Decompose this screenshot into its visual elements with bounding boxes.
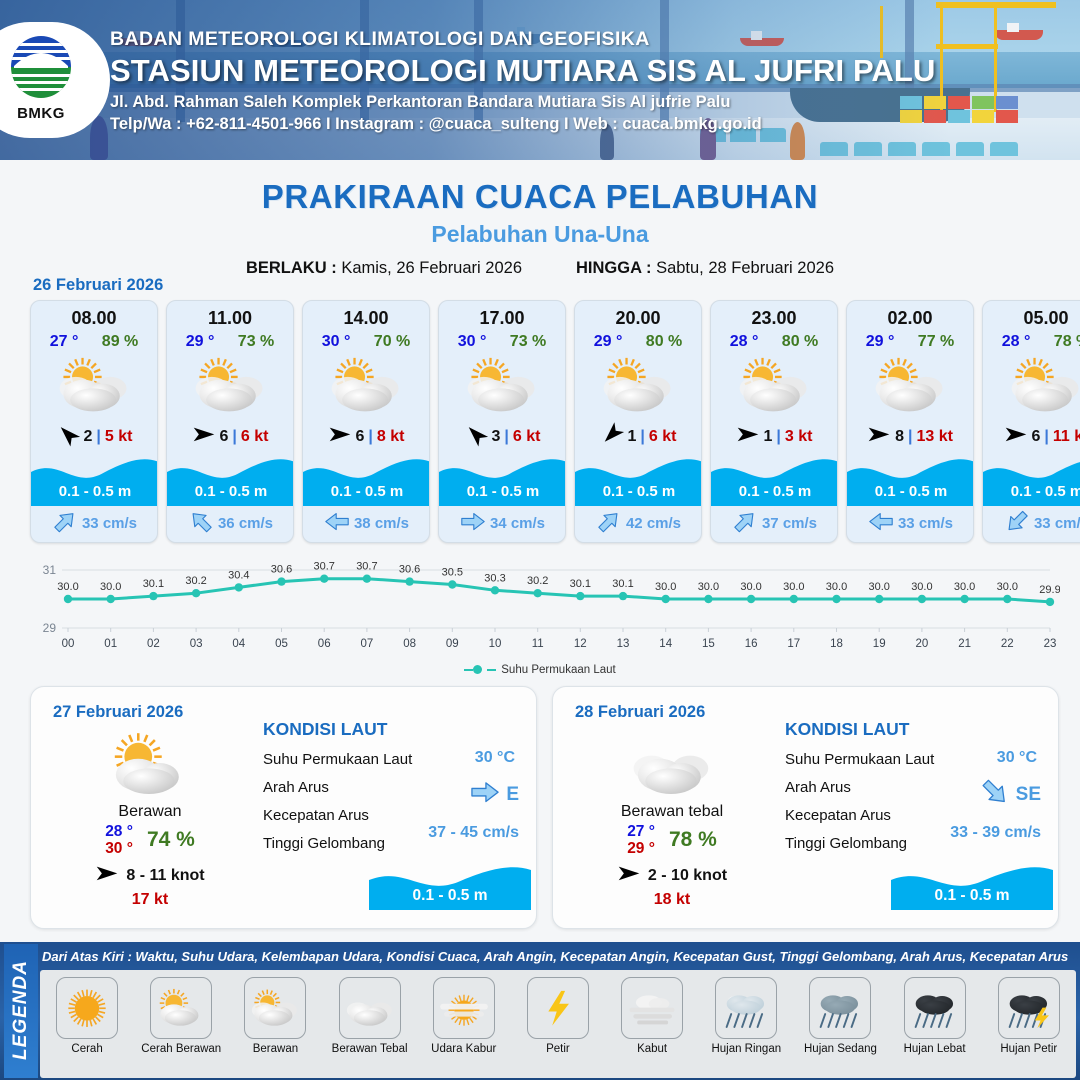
svg-text:30.4: 30.4 bbox=[228, 569, 249, 581]
daily-forecast-row: 27 Februari 2026 Berawan 28 ° 30 ° 74 % … bbox=[30, 686, 1059, 929]
legend-item-label: Berawan bbox=[233, 1043, 317, 1055]
card-humidity: 73 % bbox=[510, 333, 546, 351]
wave-height-value: 0.1 - 0.5 m bbox=[369, 887, 531, 905]
bmkg-logo-text: BMKG bbox=[17, 105, 65, 122]
svg-text:05: 05 bbox=[275, 638, 288, 650]
current-direction-arrow-icon bbox=[189, 512, 213, 536]
card-current-row: 37 cm/s bbox=[711, 512, 838, 536]
card-wave-height: 0.1 - 0.5 m bbox=[303, 483, 430, 500]
current-speed-label: Kecepatan Arus bbox=[785, 807, 1047, 824]
daily-forecast-panel: 27 Februari 2026 Berawan 28 ° 30 ° 74 % … bbox=[30, 686, 537, 929]
legend-item-label: Cerah bbox=[45, 1043, 129, 1055]
card-current-row: 33 cm/s bbox=[983, 512, 1080, 536]
hingga-group: HINGGA : Sabtu, 28 Februari 2026 bbox=[576, 259, 834, 278]
svg-text:30.7: 30.7 bbox=[356, 561, 377, 573]
separator: | bbox=[640, 428, 644, 446]
svg-text:30.0: 30.0 bbox=[100, 581, 121, 593]
card-wind-row: 1 | 3 kt bbox=[711, 425, 837, 449]
legend-item: Petir bbox=[516, 977, 600, 1055]
card-temp-hum-row: 30 ° 70 % bbox=[303, 333, 429, 351]
svg-text:30.0: 30.0 bbox=[698, 581, 719, 593]
daily-wind-row: 8 - 11 knot bbox=[45, 864, 255, 888]
legend-item: Berawan Tebal bbox=[328, 977, 412, 1055]
legend-item-label: Cerah Berawan bbox=[139, 1043, 223, 1055]
svg-text:03: 03 bbox=[190, 638, 203, 650]
card-humidity: 70 % bbox=[374, 333, 410, 351]
card-temperature: 28 ° bbox=[1002, 333, 1031, 351]
legend-item: Hujan Lebat bbox=[893, 977, 977, 1055]
card-humidity: 78 % bbox=[1054, 333, 1080, 351]
card-wind-row: 6 | 11 kt bbox=[983, 425, 1080, 449]
svg-text:12: 12 bbox=[574, 638, 587, 650]
sea-conditions-header: KONDISI LAUT bbox=[263, 719, 525, 740]
daily-date: 28 Februari 2026 bbox=[575, 703, 705, 722]
svg-text:20: 20 bbox=[916, 638, 929, 650]
svg-text:16: 16 bbox=[745, 638, 758, 650]
svg-text:30.7: 30.7 bbox=[313, 561, 334, 573]
page-subtitle: Pelabuhan Una-Una bbox=[0, 221, 1080, 248]
legend-item: Hujan Ringan bbox=[704, 977, 788, 1055]
current-direction-value-group: SE bbox=[981, 781, 1041, 808]
hingga-value: Sabtu, 28 Februari 2026 bbox=[656, 259, 834, 277]
separator: | bbox=[1044, 428, 1048, 446]
card-time: 14.00 bbox=[303, 308, 429, 329]
card-current-row: 38 cm/s bbox=[303, 512, 430, 536]
card-temperature: 27 ° bbox=[50, 333, 79, 351]
wind-direction-arrow-icon bbox=[192, 425, 216, 449]
svg-text:30.0: 30.0 bbox=[911, 581, 932, 593]
chart-legend-marker bbox=[473, 665, 482, 674]
card-current-speed: 33 cm/s bbox=[898, 515, 953, 532]
svg-text:22: 22 bbox=[1001, 638, 1014, 650]
separator: | bbox=[232, 428, 236, 446]
card-wind-row: 8 | 13 kt bbox=[847, 425, 973, 449]
daily-gust: 17 kt bbox=[45, 891, 255, 909]
legend-sidebar: LEGENDA bbox=[4, 944, 38, 1078]
card-gust: 13 kt bbox=[916, 428, 952, 446]
legend-item: Kabut bbox=[610, 977, 694, 1055]
daily-temps-row: 27 ° 29 ° 78 % bbox=[567, 823, 777, 858]
current-direction-arrow-icon bbox=[981, 781, 1009, 808]
legend-item: Berawan bbox=[233, 977, 317, 1055]
svg-text:30.6: 30.6 bbox=[271, 564, 292, 576]
wind-direction-arrow-icon bbox=[464, 425, 488, 449]
card-temp-hum-row: 29 ° 80 % bbox=[575, 333, 701, 351]
daily-temp-max: 30 ° bbox=[105, 840, 133, 857]
card-wind-row: 1 | 6 kt bbox=[575, 425, 701, 449]
wind-direction-arrow-icon bbox=[1004, 425, 1028, 449]
legend-item-label: Hujan Petir bbox=[987, 1043, 1071, 1055]
card-wind-speed: 3 bbox=[492, 428, 501, 446]
separator: | bbox=[368, 428, 372, 446]
svg-text:30.0: 30.0 bbox=[57, 581, 78, 593]
card-wave-height: 0.1 - 0.5 m bbox=[575, 483, 702, 500]
card-temperature: 28 ° bbox=[730, 333, 759, 351]
daily-left-column: Berawan tebal 27 ° 29 ° 78 % 2 - 10 knot… bbox=[567, 731, 777, 909]
daily-humidity: 78 % bbox=[669, 828, 717, 852]
card-temperature: 30 ° bbox=[458, 333, 487, 351]
wind-direction-arrow-icon bbox=[617, 864, 641, 888]
daily-temp-min: 28 ° bbox=[105, 823, 133, 840]
svg-text:30.0: 30.0 bbox=[655, 581, 676, 593]
card-wind-row: 6 | 6 kt bbox=[167, 425, 293, 449]
svg-text:30.0: 30.0 bbox=[740, 581, 761, 593]
weather-berawan-icon bbox=[711, 355, 837, 417]
header-contact: Telp/Wa : +62-811-4501-966 I Instagram :… bbox=[110, 115, 935, 134]
wind-direction-arrow-icon bbox=[95, 864, 119, 888]
weather-hujan-sedang-icon bbox=[809, 977, 871, 1039]
card-temp-hum-row: 29 ° 73 % bbox=[167, 333, 293, 351]
header-address: Jl. Abd. Rahman Saleh Komplek Perkantora… bbox=[110, 93, 935, 112]
svg-text:30.0: 30.0 bbox=[783, 581, 804, 593]
hingga-label: HINGGA : bbox=[576, 259, 651, 277]
current-direction-arrow-icon bbox=[471, 781, 499, 808]
wave-height-value: 0.1 - 0.5 m bbox=[891, 887, 1053, 905]
svg-text:07: 07 bbox=[361, 638, 374, 650]
sst-chart: 293130.00030.00130.10230.20330.40430.605… bbox=[20, 556, 1060, 676]
weather-hujan-lebat-icon bbox=[904, 977, 966, 1039]
card-gust: 3 kt bbox=[785, 428, 813, 446]
card-time: 11.00 bbox=[167, 308, 293, 329]
card-wind-row: 3 | 6 kt bbox=[439, 425, 565, 449]
daily-condition: Berawan tebal bbox=[567, 803, 777, 821]
berlaku-label: BERLAKU : bbox=[246, 259, 337, 277]
legend-item: Hujan Sedang bbox=[798, 977, 882, 1055]
card-current-row: 42 cm/s bbox=[575, 512, 702, 536]
current-direction-value: SE bbox=[1016, 784, 1041, 806]
card-wind-row: 6 | 8 kt bbox=[303, 425, 429, 449]
svg-text:09: 09 bbox=[446, 638, 459, 650]
card-wind-speed: 6 bbox=[220, 428, 229, 446]
svg-text:19: 19 bbox=[873, 638, 886, 650]
current-direction-arrow-icon bbox=[597, 512, 621, 536]
daily-condition: Berawan bbox=[45, 803, 255, 821]
current-direction-arrow-icon bbox=[53, 512, 77, 536]
svg-text:01: 01 bbox=[104, 638, 117, 650]
hourly-card: 11.00 29 ° 73 % 6 | 6 kt 0.1 - 0.5 m 36 … bbox=[166, 300, 294, 543]
card-time: 02.00 bbox=[847, 308, 973, 329]
legend-note: Dari Atas Kiri : Waktu, Suhu Udara, Kele… bbox=[42, 949, 1068, 964]
card-current-row: 33 cm/s bbox=[847, 512, 974, 536]
svg-text:30.0: 30.0 bbox=[954, 581, 975, 593]
daily-left-column: Berawan 28 ° 30 ° 74 % 8 - 11 knot 17 kt bbox=[45, 731, 255, 909]
svg-text:14: 14 bbox=[659, 638, 672, 650]
legend-item: Udara Kabur bbox=[422, 977, 506, 1055]
separator: | bbox=[776, 428, 780, 446]
svg-text:30.1: 30.1 bbox=[612, 578, 633, 590]
weather-berawan-icon bbox=[31, 355, 157, 417]
current-speed-label: Kecepatan Arus bbox=[263, 807, 525, 824]
card-gust: 8 kt bbox=[377, 428, 405, 446]
wind-direction-arrow-icon bbox=[328, 425, 352, 449]
card-temperature: 29 ° bbox=[866, 333, 895, 351]
svg-text:29.9: 29.9 bbox=[1039, 584, 1060, 596]
daily-temp-range: 27 ° 29 ° bbox=[627, 823, 655, 858]
card-time: 05.00 bbox=[983, 308, 1080, 329]
page-header: BMKG BADAN METEOROLOGI KLIMATOLOGI DAN G… bbox=[0, 0, 1080, 160]
hourly-date-label: 26 Februari 2026 bbox=[33, 276, 163, 295]
legend-item-label: Kabut bbox=[610, 1043, 694, 1055]
card-current-speed: 42 cm/s bbox=[626, 515, 681, 532]
legend-item: Hujan Petir bbox=[987, 977, 1071, 1055]
card-current-speed: 34 cm/s bbox=[490, 515, 545, 532]
wind-direction-arrow-icon bbox=[736, 425, 760, 449]
legend-item: Cerah bbox=[45, 977, 129, 1055]
chart-legend-label: Suhu Permukaan Laut bbox=[501, 664, 615, 676]
chart-legend-line bbox=[464, 669, 473, 671]
legend-item-label: Udara Kabur bbox=[422, 1043, 506, 1055]
card-wind-speed: 1 bbox=[764, 428, 773, 446]
current-direction-arrow-icon bbox=[869, 512, 893, 536]
card-time: 17.00 bbox=[439, 308, 565, 329]
weather-udara-kabur-icon bbox=[433, 977, 495, 1039]
weather-berawan-icon bbox=[303, 355, 429, 417]
sst-value: 30 °C bbox=[475, 749, 515, 767]
legend-item-label: Petir bbox=[516, 1043, 600, 1055]
card-humidity: 77 % bbox=[918, 333, 954, 351]
daily-humidity: 74 % bbox=[147, 828, 195, 852]
card-time: 08.00 bbox=[31, 308, 157, 329]
svg-text:31: 31 bbox=[43, 563, 57, 577]
svg-text:17: 17 bbox=[787, 638, 800, 650]
berlaku-group: BERLAKU : Kamis, 26 Februari 2026 bbox=[246, 259, 522, 278]
svg-text:00: 00 bbox=[62, 638, 75, 650]
weather-cerah-berawan-icon bbox=[150, 977, 212, 1039]
legend-section: LEGENDA Dari Atas Kiri : Waktu, Suhu Uda… bbox=[0, 942, 1080, 1080]
weather-berawan-icon bbox=[847, 355, 973, 417]
weather-berawan-tebal-icon bbox=[339, 977, 401, 1039]
svg-text:30.6: 30.6 bbox=[399, 564, 420, 576]
card-wind-speed: 8 bbox=[895, 428, 904, 446]
weather-berawan-icon bbox=[244, 977, 306, 1039]
sst-value: 30 °C bbox=[997, 749, 1037, 767]
svg-text:04: 04 bbox=[232, 638, 245, 650]
card-current-speed: 33 cm/s bbox=[82, 515, 137, 532]
card-gust: 5 kt bbox=[105, 428, 133, 446]
weather-berawan-icon bbox=[439, 355, 565, 417]
daily-temp-max: 29 ° bbox=[627, 840, 655, 857]
card-wave-height: 0.1 - 0.5 m bbox=[167, 483, 294, 500]
card-humidity: 73 % bbox=[238, 333, 274, 351]
separator: | bbox=[96, 428, 100, 446]
card-current-speed: 37 cm/s bbox=[762, 515, 817, 532]
daily-wind-speed: 2 - 10 knot bbox=[648, 867, 727, 885]
svg-text:15: 15 bbox=[702, 638, 715, 650]
hourly-card: 05.00 28 ° 78 % 6 | 11 kt 0.1 - 0.5 m 33… bbox=[982, 300, 1080, 543]
sea-conditions-header: KONDISI LAUT bbox=[785, 719, 1047, 740]
card-wave-height: 0.1 - 0.5 m bbox=[439, 483, 566, 500]
card-humidity: 80 % bbox=[782, 333, 818, 351]
legend-sidebar-label: LEGENDA bbox=[10, 943, 32, 1077]
daily-sea-conditions: KONDISI LAUT Suhu Permukaan Laut Arah Ar… bbox=[263, 719, 525, 852]
weather-petir-icon bbox=[527, 977, 589, 1039]
weather-cerah-berawan-icon bbox=[45, 731, 255, 799]
daily-wind-speed: 8 - 11 knot bbox=[126, 867, 204, 885]
chart-legend: Suhu Permukaan Laut bbox=[0, 664, 1080, 676]
card-current-row: 36 cm/s bbox=[167, 512, 294, 536]
card-gust: 11 kt bbox=[1053, 428, 1080, 446]
current-direction-arrow-icon bbox=[325, 512, 349, 536]
daily-sea-conditions: KONDISI LAUT Suhu Permukaan Laut Arah Ar… bbox=[785, 719, 1047, 852]
wind-direction-arrow-icon bbox=[867, 425, 891, 449]
header-org-name: BADAN METEOROLOGI KLIMATOLOGI DAN GEOFIS… bbox=[110, 28, 935, 51]
card-temp-hum-row: 30 ° 73 % bbox=[439, 333, 565, 351]
header-station-name: STASIUN METEOROLOGI MUTIARA SIS AL JUFRI… bbox=[110, 53, 935, 89]
card-current-row: 33 cm/s bbox=[31, 512, 158, 536]
card-wave-height: 0.1 - 0.5 m bbox=[983, 483, 1080, 500]
hourly-forecast-row: 08.00 27 ° 89 % 2 | 5 kt 0.1 - 0.5 m 33 … bbox=[30, 300, 1080, 543]
card-temperature: 29 ° bbox=[594, 333, 623, 351]
card-temp-hum-row: 27 ° 89 % bbox=[31, 333, 157, 351]
card-current-speed: 38 cm/s bbox=[354, 515, 409, 532]
svg-text:30.3: 30.3 bbox=[484, 572, 505, 584]
hourly-card: 23.00 28 ° 80 % 1 | 3 kt 0.1 - 0.5 m 37 … bbox=[710, 300, 838, 543]
weather-berawan-icon bbox=[575, 355, 701, 417]
weather-berawan-icon bbox=[983, 355, 1080, 417]
svg-text:30.1: 30.1 bbox=[570, 578, 591, 590]
daily-forecast-panel: 28 Februari 2026 Berawan tebal 27 ° 29 °… bbox=[552, 686, 1059, 929]
svg-text:30.1: 30.1 bbox=[143, 578, 164, 590]
card-wind-row: 2 | 5 kt bbox=[31, 425, 157, 449]
card-temp-hum-row: 28 ° 80 % bbox=[711, 333, 837, 351]
svg-text:30.2: 30.2 bbox=[527, 575, 548, 587]
current-direction-arrow-icon bbox=[733, 512, 757, 536]
page-title: PRAKIRAAN CUACA PELABUHAN bbox=[0, 178, 1080, 216]
legend-item: Cerah Berawan bbox=[139, 977, 223, 1055]
bmkg-emblem-icon bbox=[6, 34, 76, 104]
svg-text:30.0: 30.0 bbox=[826, 581, 847, 593]
card-current-speed: 36 cm/s bbox=[218, 515, 273, 532]
legend-item-label: Hujan Lebat bbox=[893, 1043, 977, 1055]
current-direction-arrow-icon bbox=[461, 512, 485, 536]
card-temp-hum-row: 29 ° 77 % bbox=[847, 333, 973, 351]
weather-hujan-petir-icon bbox=[998, 977, 1060, 1039]
wind-direction-arrow-icon bbox=[56, 425, 80, 449]
svg-text:02: 02 bbox=[147, 638, 160, 650]
hourly-card: 17.00 30 ° 73 % 3 | 6 kt 0.1 - 0.5 m 34 … bbox=[438, 300, 566, 543]
chart-legend-line bbox=[487, 669, 496, 671]
current-direction-value: E bbox=[506, 784, 519, 806]
card-time: 23.00 bbox=[711, 308, 837, 329]
daily-date: 27 Februari 2026 bbox=[53, 703, 183, 722]
card-wind-speed: 1 bbox=[628, 428, 637, 446]
card-wave-height: 0.1 - 0.5 m bbox=[711, 483, 838, 500]
separator: | bbox=[908, 428, 912, 446]
svg-text:30.5: 30.5 bbox=[442, 567, 463, 579]
wind-direction-arrow-icon bbox=[600, 425, 624, 449]
card-wave-height: 0.1 - 0.5 m bbox=[31, 483, 158, 500]
weather-kabut-icon bbox=[621, 977, 683, 1039]
svg-text:30.0: 30.0 bbox=[868, 581, 889, 593]
current-speed-value: 37 - 45 cm/s bbox=[428, 824, 519, 842]
daily-temp-range: 28 ° 30 ° bbox=[105, 823, 133, 858]
svg-text:29: 29 bbox=[43, 621, 57, 635]
weather-hujan-ringan-icon bbox=[715, 977, 777, 1039]
svg-text:23: 23 bbox=[1044, 638, 1057, 650]
card-temperature: 29 ° bbox=[186, 333, 215, 351]
svg-text:08: 08 bbox=[403, 638, 416, 650]
card-wind-speed: 6 bbox=[356, 428, 365, 446]
hourly-card: 14.00 30 ° 70 % 6 | 8 kt 0.1 - 0.5 m 38 … bbox=[302, 300, 430, 543]
hourly-card: 08.00 27 ° 89 % 2 | 5 kt 0.1 - 0.5 m 33 … bbox=[30, 300, 158, 543]
header-text-block: BADAN METEOROLOGI KLIMATOLOGI DAN GEOFIS… bbox=[110, 28, 935, 134]
separator: | bbox=[504, 428, 508, 446]
legend-items-row: Cerah Cerah Berawan Berawan Berawan Teba… bbox=[40, 970, 1076, 1078]
hourly-card: 20.00 29 ° 80 % 1 | 6 kt 0.1 - 0.5 m 42 … bbox=[574, 300, 702, 543]
svg-text:10: 10 bbox=[489, 638, 502, 650]
daily-wind-row: 2 - 10 knot bbox=[567, 864, 777, 888]
card-humidity: 80 % bbox=[646, 333, 682, 351]
legend-item-label: Hujan Sedang bbox=[798, 1043, 882, 1055]
svg-text:13: 13 bbox=[617, 638, 630, 650]
svg-text:18: 18 bbox=[830, 638, 843, 650]
weather-berawan-tebal-icon bbox=[567, 731, 777, 799]
svg-text:21: 21 bbox=[958, 638, 971, 650]
card-temperature: 30 ° bbox=[322, 333, 351, 351]
svg-text:11: 11 bbox=[532, 638, 544, 650]
daily-gust: 18 kt bbox=[567, 891, 777, 909]
daily-temps-row: 28 ° 30 ° 74 % bbox=[45, 823, 255, 858]
weather-cerah-icon bbox=[56, 977, 118, 1039]
card-gust: 6 kt bbox=[513, 428, 541, 446]
card-humidity: 89 % bbox=[102, 333, 138, 351]
card-current-speed: 33 cm/s bbox=[1034, 515, 1080, 532]
current-direction-arrow-icon bbox=[1005, 512, 1029, 536]
card-wind-speed: 6 bbox=[1032, 428, 1041, 446]
svg-text:30.2: 30.2 bbox=[185, 575, 206, 587]
card-wind-speed: 2 bbox=[84, 428, 93, 446]
svg-text:06: 06 bbox=[318, 638, 331, 650]
legend-item-label: Hujan Ringan bbox=[704, 1043, 788, 1055]
weather-berawan-icon bbox=[167, 355, 293, 417]
card-gust: 6 kt bbox=[649, 428, 677, 446]
daily-temp-min: 27 ° bbox=[627, 823, 655, 840]
card-wave-height: 0.1 - 0.5 m bbox=[847, 483, 974, 500]
svg-text:30.0: 30.0 bbox=[997, 581, 1018, 593]
card-time: 20.00 bbox=[575, 308, 701, 329]
current-speed-value: 33 - 39 cm/s bbox=[950, 824, 1041, 842]
legend-item-label: Berawan Tebal bbox=[328, 1043, 412, 1055]
berlaku-value: Kamis, 26 Februari 2026 bbox=[341, 259, 522, 277]
current-direction-value-group: E bbox=[471, 781, 519, 808]
card-current-row: 34 cm/s bbox=[439, 512, 566, 536]
card-temp-hum-row: 28 ° 78 % bbox=[983, 333, 1080, 351]
card-gust: 6 kt bbox=[241, 428, 269, 446]
hourly-card: 02.00 29 ° 77 % 8 | 13 kt 0.1 - 0.5 m 33… bbox=[846, 300, 974, 543]
